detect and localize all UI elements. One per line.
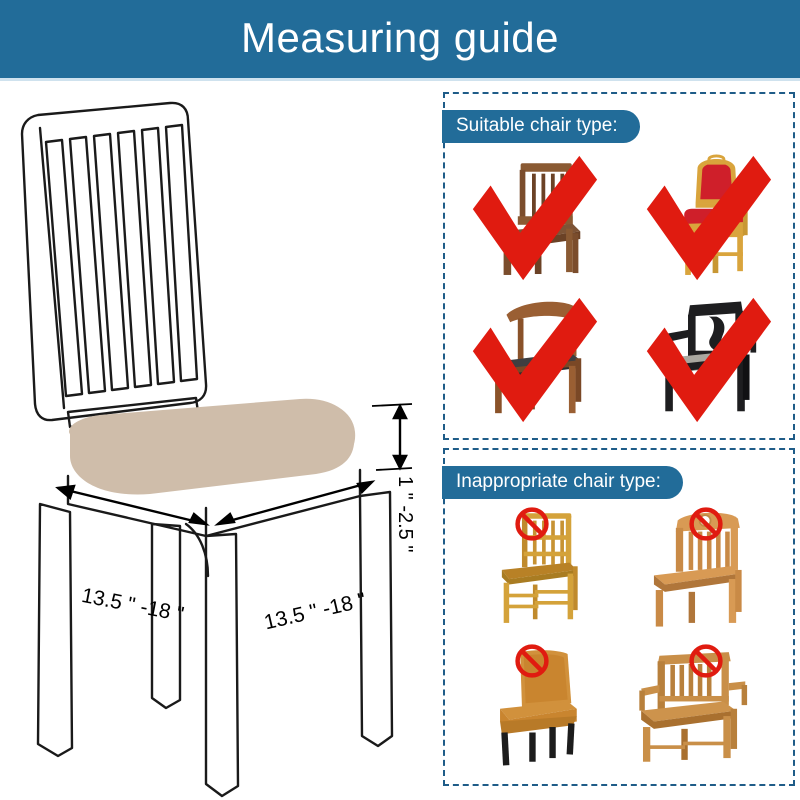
- seat-cushion: [70, 400, 354, 495]
- wooden-spindle-armchair: [619, 643, 793, 780]
- suitable-chair-grid: [445, 150, 793, 434]
- chair-cell-red-gold-banquet[interactable]: [619, 150, 793, 292]
- seat-height-label: 1 " -2.5 ": [393, 476, 416, 552]
- red-gold-banquet-chair: [619, 150, 793, 292]
- red-prohibition-icon: [688, 506, 724, 542]
- chair-cell-black-armchair[interactable]: [619, 292, 793, 434]
- chair-cell-light-oak-slat-back[interactable]: [619, 506, 793, 643]
- red-check-mark-icon: [445, 150, 619, 292]
- red-check-mark-icon: [445, 292, 619, 434]
- chair-cell-tan-leather-parsons[interactable]: [445, 643, 619, 780]
- black-armchair-gray-seat: [619, 292, 793, 434]
- brown-wooden-slat-back-chair: [445, 150, 619, 292]
- measuring-guide-page: Measuring guide: [0, 0, 800, 800]
- red-prohibition-icon: [688, 643, 724, 679]
- panel-inappropriate-chair-type: Inappropriate chair type:: [443, 448, 795, 786]
- red-prohibition-icon: [514, 643, 550, 679]
- header-underline: [0, 78, 800, 81]
- gold-chiavari-chair: [445, 506, 619, 643]
- chair-measuring-diagram: 13.5 " -18 " 13.5 " -18 " 1 " -2.5 ": [0, 84, 440, 800]
- light-oak-slat-back-chair: [619, 506, 793, 643]
- red-prohibition-icon: [514, 506, 550, 542]
- walnut-curved-back-chair: [445, 292, 619, 434]
- chair-cell-walnut-curved-back[interactable]: [445, 292, 619, 434]
- panel-suitable-chair-type: Suitable chair type:: [443, 92, 795, 440]
- chair-cell-gold-chiavari[interactable]: [445, 506, 619, 643]
- panel-suitable-label: Suitable chair type:: [442, 110, 640, 143]
- page-title: Measuring guide: [241, 17, 559, 59]
- inappropriate-chair-grid: [445, 506, 793, 780]
- red-check-mark-icon: [619, 292, 793, 434]
- panel-inappropriate-label: Inappropriate chair type:: [442, 466, 683, 499]
- chair-cell-brown-wooden-slat-back[interactable]: [445, 150, 619, 292]
- tan-leather-parsons-chair: [445, 643, 619, 780]
- chair-cell-wooden-spindle-armchair[interactable]: [619, 643, 793, 780]
- chair-outline-drawing: [0, 84, 440, 800]
- red-check-mark-icon: [619, 150, 793, 292]
- page-header-banner: Measuring guide: [0, 0, 800, 78]
